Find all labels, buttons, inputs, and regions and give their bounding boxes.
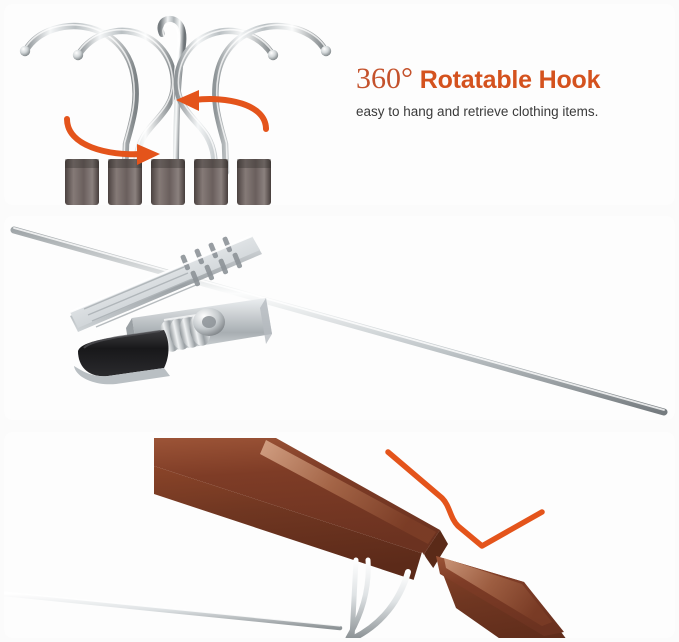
hanger-shoulder-bar (154, 438, 448, 582)
hanger-shoulder-tip (436, 556, 570, 638)
feature-panel-shoulder-notches: Shoulder Notches prevent strappy clothes… (4, 432, 675, 638)
hook-wooden-bases (65, 159, 271, 205)
clip-pivot (193, 308, 225, 336)
feature-infographic: 360° Rotatable Hook easy to hang and ret… (0, 0, 679, 642)
hook-heading-degrees: 360° (356, 62, 413, 95)
hook-1 (20, 25, 136, 172)
hook-text-block: 360° Rotatable Hook easy to hang and ret… (356, 62, 600, 120)
clip-illustration (4, 216, 675, 420)
shoulder-notch-illustration (4, 432, 675, 638)
hook-heading: 360° Rotatable Hook (356, 62, 600, 96)
hook-subheading: easy to hang and retrieve clothing items… (356, 103, 600, 121)
feature-panel-rotatable-hook: 360° Rotatable Hook easy to hang and ret… (4, 4, 675, 205)
feature-panel-clip-rubber-pad: Clip with Rubber Pad for a firm grip and… (4, 216, 675, 420)
hook-heading-main: Rotatable Hook (420, 66, 601, 94)
rotation-arrow-right-icon (67, 119, 160, 165)
hanger-wire-frame (4, 560, 408, 638)
